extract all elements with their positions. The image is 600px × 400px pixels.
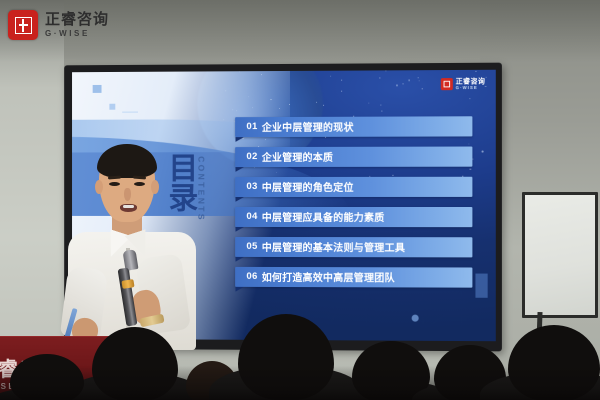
star-dot	[330, 75, 331, 76]
presenter-eye-right	[134, 182, 145, 186]
gwise-square-logo-icon	[8, 10, 38, 40]
logo-glyph-icon	[444, 81, 451, 88]
agenda-item-label: 中层管理应具备的能力素质	[262, 209, 385, 224]
agenda-item: 02企业管理的本质	[235, 146, 472, 167]
presenter-ear-right	[151, 180, 159, 194]
audience-shadow-overlay	[0, 366, 600, 400]
agenda-item-number: 06	[246, 271, 257, 282]
presenter-ear-left	[95, 180, 103, 194]
presenter-eye-left	[109, 182, 120, 186]
agenda-bar: 03中层管理的角色定位	[235, 176, 472, 196]
star-dot	[418, 77, 419, 78]
easel-board	[522, 192, 598, 318]
star-dot	[396, 84, 398, 86]
agenda-bar: 02企业管理的本质	[235, 146, 472, 167]
star-dot	[385, 70, 386, 71]
screenshot-root: 正睿咨询 G·WISE 目录 CONTENTS	[0, 0, 600, 400]
decorative-square-2	[110, 104, 116, 110]
slide-corner-logo: 正睿咨询 G·WISE	[441, 78, 485, 91]
star-dot	[323, 105, 324, 106]
star-dot	[408, 80, 410, 82]
star-dot	[418, 80, 419, 81]
agenda-item: 03中层管理的角色定位	[235, 176, 472, 196]
agenda-bar: 06如何打造高效中高层管理团队	[235, 267, 472, 288]
star-dot	[368, 103, 369, 104]
star-dot	[482, 151, 484, 153]
star-dot	[469, 98, 470, 99]
slide-logo-name-en: G·WISE	[456, 86, 486, 90]
star-dot	[475, 71, 476, 72]
agenda-item-label: 如何打造高效中高层管理团队	[262, 269, 395, 284]
agenda-item-label: 企业中层管理的现状	[262, 119, 354, 134]
star-dot	[342, 80, 343, 81]
presenter-mouth	[120, 204, 137, 212]
decorative-square-1	[93, 85, 102, 93]
star-dot	[380, 104, 381, 105]
agenda-item-number: 03	[246, 181, 257, 192]
presenter-hair	[97, 144, 157, 178]
brand-name-cn: 正睿咨询	[45, 12, 109, 27]
star-dot	[422, 88, 423, 89]
agenda-item-label: 企业管理的本质	[262, 149, 333, 164]
agenda-bar: 05中层管理的基本法则与管理工具	[235, 237, 472, 257]
agenda-item-number: 02	[246, 151, 257, 162]
star-dot	[341, 90, 342, 91]
slide-corner-logo-text: 正睿咨询 G·WISE	[456, 78, 486, 91]
star-dot	[472, 159, 473, 160]
agenda-item-number: 04	[246, 211, 257, 222]
agenda-bar: 01企业中层管理的现状	[235, 116, 472, 137]
agenda-bar: 04中层管理应具备的能力素质	[235, 207, 472, 227]
star-dot	[381, 110, 382, 111]
agenda-item-number: 05	[246, 241, 257, 252]
brand-watermark: 正睿咨询 G·WISE	[8, 10, 109, 40]
star-dot	[379, 77, 380, 78]
agenda-item-label: 中层管理的基本法则与管理工具	[262, 239, 405, 254]
brand-watermark-text: 正睿咨询 G·WISE	[45, 12, 109, 38]
agenda-item-number: 01	[246, 121, 257, 132]
agenda-item: 01企业中层管理的现状	[235, 116, 472, 137]
decorative-line	[122, 112, 138, 113]
logo-glyph-icon	[15, 17, 32, 34]
gwise-square-logo-icon	[441, 78, 453, 90]
agenda-item: 04中层管理应具备的能力素质	[235, 207, 472, 227]
star-dot	[402, 84, 403, 85]
presenter-nose	[124, 188, 131, 201]
agenda-item: 06如何打造高效中高层管理团队	[235, 267, 472, 288]
decorative-square-3	[475, 274, 487, 298]
slide-logo-name-cn: 正睿咨询	[456, 78, 486, 85]
agenda-item: 05中层管理的基本法则与管理工具	[235, 237, 472, 257]
brand-name-en: G·WISE	[45, 30, 109, 38]
agenda-item-label: 中层管理的角色定位	[262, 179, 354, 194]
star-dot	[316, 102, 317, 103]
slide-agenda-list: 01企业中层管理的现状02企业管理的本质03中层管理的角色定位04中层管理应具备…	[235, 116, 472, 287]
